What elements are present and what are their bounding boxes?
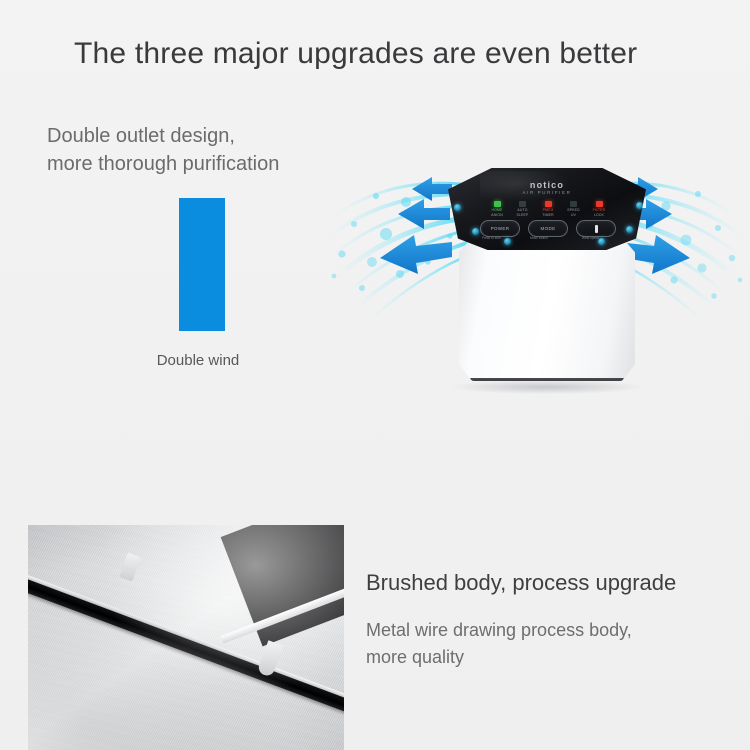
brand-logo: notico bbox=[448, 180, 646, 190]
status-led-home-icon bbox=[494, 201, 501, 207]
status-indicator: FILTER LOCK bbox=[588, 201, 610, 218]
blue-bar-graphic bbox=[179, 198, 225, 331]
sensor-light-icon bbox=[504, 238, 511, 245]
status-led-pm25-icon bbox=[545, 201, 552, 207]
status-sub-label: ANION bbox=[486, 213, 508, 218]
power-button-sublabel: Press to start bbox=[482, 236, 501, 240]
sensor-light-icon bbox=[636, 202, 643, 209]
fan-speed-button[interactable] bbox=[576, 220, 616, 237]
brushed-body-subtext-line2: more quality bbox=[366, 644, 632, 671]
sensor-light-icon bbox=[472, 228, 479, 235]
brushed-body-subtext: Metal wire drawing process body, more qu… bbox=[366, 617, 632, 671]
brushed-body-photo bbox=[28, 525, 344, 750]
panel-button-row: POWER MODE bbox=[480, 220, 616, 237]
sensor-light-icon bbox=[454, 204, 461, 211]
status-indicator: SPEED UV bbox=[563, 201, 585, 218]
page-title: The three major upgrades are even better bbox=[74, 34, 637, 74]
status-sub-label: UV bbox=[563, 213, 585, 218]
sensor-light-icon bbox=[598, 238, 605, 245]
status-indicator: PM2.5 TIMER bbox=[537, 201, 559, 218]
brand-sublogo: AIR PURIFIER bbox=[448, 190, 646, 195]
status-sub-label: SLEEP bbox=[512, 213, 534, 218]
mode-button[interactable]: MODE bbox=[528, 220, 568, 237]
promo-page: The three major upgrades are even better… bbox=[0, 0, 750, 750]
device-shadow bbox=[452, 380, 642, 394]
brushed-body-heading: Brushed body, process upgrade bbox=[366, 569, 676, 597]
fan-speed-button-sublabel: Wind speed bbox=[582, 236, 599, 240]
status-led-auto-icon bbox=[519, 201, 526, 207]
power-button[interactable]: POWER bbox=[480, 220, 520, 237]
status-led-speed-icon bbox=[570, 201, 577, 207]
bar-indicator-icon bbox=[595, 225, 598, 233]
status-led-filter-icon bbox=[596, 201, 603, 207]
air-purifier-device: notico AIR PURIFIER HOME ANION AUTO SLEE… bbox=[448, 168, 646, 390]
status-indicator: AUTO SLEEP bbox=[512, 201, 534, 218]
photo-sheen bbox=[28, 525, 344, 750]
airflow-headline-line2: more thorough purification bbox=[47, 150, 279, 178]
air-purifier-scene: notico AIR PURIFIER HOME ANION AUTO SLEE… bbox=[320, 150, 750, 410]
airflow-headline-line1: Double outlet design, bbox=[47, 122, 279, 150]
status-indicator-row: HOME ANION AUTO SLEEP PM2.5 TIMER bbox=[486, 201, 610, 218]
bar-caption: Double wind bbox=[148, 352, 248, 370]
mode-button-label: MODE bbox=[541, 226, 556, 231]
sensor-light-icon bbox=[626, 226, 633, 233]
mode-button-sublabel: Mode switch bbox=[530, 236, 548, 240]
airflow-arrow-left bbox=[380, 177, 452, 274]
status-sub-label: TIMER bbox=[537, 213, 559, 218]
airflow-feature-text: Double outlet design, more thorough puri… bbox=[47, 122, 279, 178]
status-sub-label: LOCK bbox=[588, 213, 610, 218]
double-wind-indicator: Double wind bbox=[158, 198, 248, 370]
status-indicator: HOME ANION bbox=[486, 201, 508, 218]
brushed-body-subtext-line1: Metal wire drawing process body, bbox=[366, 617, 632, 644]
control-panel[interactable]: notico AIR PURIFIER HOME ANION AUTO SLEE… bbox=[448, 168, 646, 250]
power-button-label: POWER bbox=[491, 226, 510, 231]
device-body bbox=[459, 240, 635, 378]
